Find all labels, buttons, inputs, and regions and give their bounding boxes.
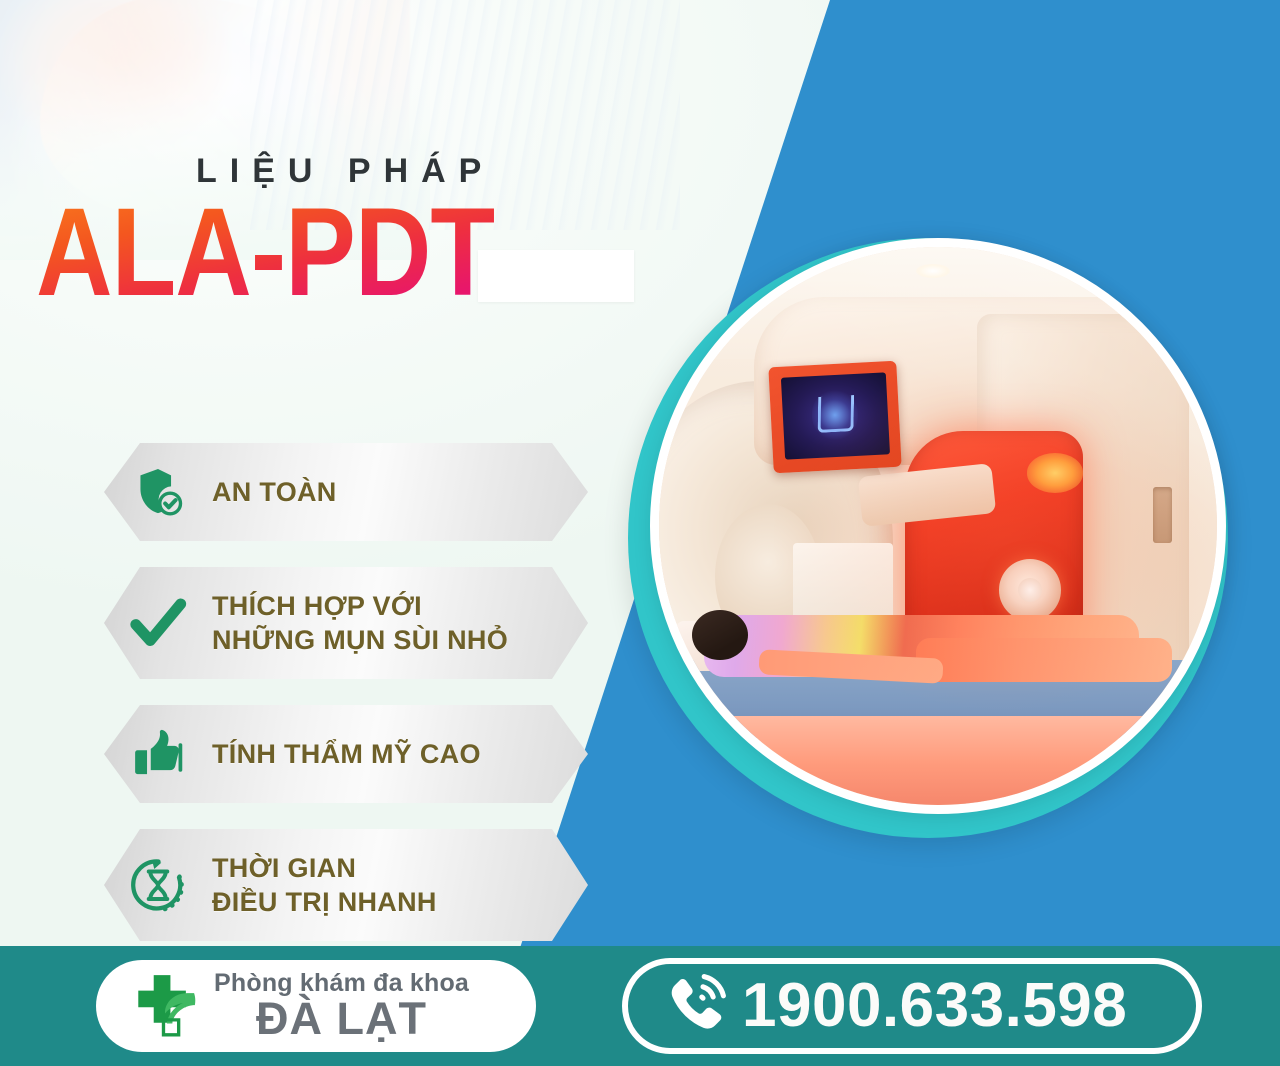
phone-ringing-icon [646, 970, 742, 1042]
feature-badge-line1: AN TOÀN [212, 477, 337, 507]
photo-glare-overlay [659, 247, 1217, 805]
clinic-name: ĐÀ LẠT [214, 996, 469, 1042]
feature-badge-line1: THÍCH HỢP VỚI [212, 589, 508, 623]
feature-badge-line1: TÍNH THẨM MỸ CAO [212, 739, 481, 769]
feature-badge-line2: ĐIỀU TRỊ NHANH [212, 885, 437, 919]
feature-badge-line1: THỜI GIAN [212, 851, 437, 885]
feature-badge[interactable]: AN TOÀN [104, 443, 588, 541]
shield-check-icon [104, 465, 212, 519]
treatment-photo [650, 238, 1226, 814]
medical-cross-leaf-icon [118, 970, 210, 1042]
feature-badge[interactable]: THỜI GIAN ĐIỀU TRỊ NHANH [104, 829, 588, 941]
headline-wordmark: ALA-PDT [36, 190, 494, 315]
thumbs-up-icon [104, 726, 212, 782]
blank-white-box [478, 250, 634, 302]
hourglass-timer-icon [104, 855, 212, 915]
phone-number[interactable]: 1900.633.598 [742, 975, 1127, 1037]
feature-badge-list: AN TOÀN THÍCH HỢP VỚI NHỮNG MỤN SÙI NHỎ [104, 443, 588, 967]
treatment-photo-inner [659, 247, 1217, 805]
footer-bar: Phòng khám đa khoa ĐÀ LẠT 1900.633.598 [0, 946, 1280, 1066]
ala-pdt-promo-banner: LIỆU PHÁP ALA-PDT AN TOÀN [0, 0, 1280, 1066]
feature-badge[interactable]: THÍCH HỢP VỚI NHỮNG MỤN SÙI NHỎ [104, 567, 588, 679]
feature-badge[interactable]: TÍNH THẨM MỸ CAO [104, 705, 588, 803]
feature-badge-label: THỜI GIAN ĐIỀU TRỊ NHANH [212, 851, 451, 919]
feature-badge-label: AN TOÀN [212, 475, 351, 509]
feature-badge-line2: NHỮNG MỤN SÙI NHỎ [212, 623, 508, 657]
clinic-logo-text: Phòng khám đa khoa ĐÀ LẠT [214, 970, 469, 1042]
clinic-logo-pill[interactable]: Phòng khám đa khoa ĐÀ LẠT [96, 960, 536, 1052]
feature-badge-label: THÍCH HỢP VỚI NHỮNG MỤN SÙI NHỎ [212, 589, 522, 657]
check-mark-icon [104, 592, 212, 654]
phone-cta-pill[interactable]: 1900.633.598 [622, 958, 1202, 1054]
feature-badge-label: TÍNH THẨM MỸ CAO [212, 737, 495, 771]
